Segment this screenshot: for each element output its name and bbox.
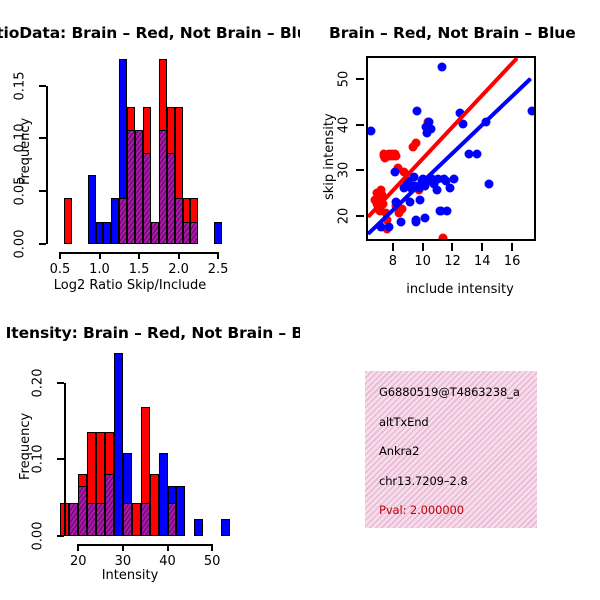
info-probe-id: G6880519@T4863238_a <box>379 385 537 399</box>
info-pval: Pval: 2.000000 <box>379 503 537 517</box>
histogram-bar <box>64 198 72 244</box>
panel-intensity-histogram: ne Itensity: Brain – Red, Not Brain – B … <box>0 320 300 600</box>
y-tickmark <box>39 243 46 245</box>
histogram-bar <box>214 222 222 244</box>
scatter-point-brain <box>411 138 420 147</box>
scatter-point-not-brain <box>484 179 493 188</box>
x-tick-label: 0.5 <box>50 262 71 277</box>
histogram-bar <box>194 519 203 536</box>
x-tickmark <box>392 243 394 251</box>
histogram-bar-overlap <box>175 198 183 244</box>
x-tick-label: 2.5 <box>208 262 229 277</box>
scatter-point-not-brain <box>450 175 459 184</box>
y-tick-label: 0.00 <box>31 522 46 551</box>
scatter-point-not-brain <box>366 127 375 136</box>
x-tickmark <box>178 252 180 259</box>
y-tick-label: 40 <box>337 116 352 133</box>
y-tickmark <box>356 78 364 80</box>
y-tickmark <box>39 190 46 192</box>
histogram-bar <box>159 453 168 536</box>
x-tick-label: 12 <box>444 254 461 269</box>
histogram-bar-overlap <box>168 503 177 536</box>
histogram-bar-overlap <box>143 153 151 244</box>
histogram-bar-overlap <box>183 222 191 244</box>
multipanel-figure: RatioData: Brain – Red, Not Brain – Blu … <box>0 0 600 600</box>
panel-intensity-scatter: Brain – Red, Not Brain – Blue 8101214162… <box>300 20 600 320</box>
y-tickmark <box>356 215 364 217</box>
scatter-ylabel: skip intensity <box>322 113 337 200</box>
scatter-point-not-brain <box>472 149 481 158</box>
x-tickmark <box>422 243 424 251</box>
y-tick-label: 0.15 <box>12 71 27 100</box>
histogram-bar-overlap <box>96 503 105 536</box>
histogram-bar-overlap <box>141 503 150 536</box>
scatter-point-not-brain <box>528 106 536 115</box>
histogram-bar-overlap <box>190 222 198 244</box>
scatter-point-not-brain <box>426 124 435 133</box>
x-tick-label: 10 <box>414 254 431 269</box>
scatter-point-not-brain <box>413 106 422 115</box>
x-tick-label: 16 <box>504 254 521 269</box>
y-axis-line <box>46 86 48 244</box>
histogram-bar-overlap <box>69 503 78 536</box>
x-tick-label: 30 <box>115 554 132 569</box>
histogram-bar-overlap <box>167 153 175 244</box>
y-tick-label: 0.10 <box>31 445 46 474</box>
scatter-point-not-brain <box>432 186 441 195</box>
y-tick-label: 0.20 <box>31 368 46 397</box>
histogram-bar-overlap <box>123 503 132 536</box>
panel-intensity-histogram-title: ne Itensity: Brain – Red, Not Brain – B <box>0 324 300 342</box>
histogram-bar-overlap <box>78 486 87 536</box>
info-event-type: altTxEnd <box>379 415 537 429</box>
x-tick-label: 2.0 <box>168 262 189 277</box>
y-tickmark <box>356 169 364 171</box>
x-tick-label: 20 <box>70 554 87 569</box>
histogram-bar <box>176 486 185 536</box>
scatter-point-not-brain <box>420 213 429 222</box>
x-axis-line <box>78 544 212 546</box>
panel-ratio-histogram-title: RatioData: Brain – Red, Not Brain – Blu <box>0 24 300 42</box>
y-tick-label: 20 <box>337 208 352 225</box>
feature-info-box: G6880519@T4863238_a altTxEnd Ankra2 chr1… <box>365 371 537 528</box>
scatter-point-not-brain <box>390 168 399 177</box>
x-tickmark <box>59 252 61 259</box>
x-tickmark <box>511 243 513 251</box>
panel-intensity-scatter-title: Brain – Red, Not Brain – Blue <box>329 24 576 42</box>
y-tickmark <box>57 458 64 460</box>
y-tick-label: 50 <box>337 71 352 88</box>
intensity-histogram-xlabel: Intensity <box>0 568 260 583</box>
histogram-bar-overlap <box>127 130 135 244</box>
info-locus: chr13.7209–2.8 <box>379 474 537 488</box>
x-tick-label: 1.0 <box>89 262 110 277</box>
x-tick-label: 14 <box>474 254 491 269</box>
regression-line <box>367 57 519 219</box>
y-tickmark <box>57 382 64 384</box>
histogram-bar <box>103 222 111 244</box>
histogram-bar-overlap <box>119 198 127 244</box>
histogram-bar <box>132 503 141 536</box>
y-axis-line <box>64 383 66 536</box>
y-tick-label: 0.00 <box>12 230 27 259</box>
y-tick-label: 30 <box>337 162 352 179</box>
x-tickmark <box>167 544 169 551</box>
x-tickmark <box>122 544 124 551</box>
y-tickmark <box>57 535 64 537</box>
x-tickmark <box>481 243 483 251</box>
y-tickmark <box>356 124 364 126</box>
x-tickmark <box>77 544 79 551</box>
histogram-bar-overlap <box>135 130 143 244</box>
scatter-point-not-brain <box>437 63 446 72</box>
intensity-histogram-ylabel: Frequency <box>18 413 33 480</box>
histogram-bar <box>221 519 230 536</box>
histogram-bar-overlap <box>151 222 159 244</box>
scatter-point-brain <box>438 234 447 241</box>
scatter-xlabel: include intensity <box>360 282 560 297</box>
x-tick-label: 40 <box>159 554 176 569</box>
x-tickmark <box>211 544 213 551</box>
x-tickmark <box>138 252 140 259</box>
histogram-bar <box>88 175 96 244</box>
ratio-histogram-ylabel: Frequency <box>18 118 33 185</box>
ratio-histogram-xlabel: Log2 Ratio Skip/Include <box>0 278 260 293</box>
scatter-point-brain <box>392 152 401 161</box>
x-tick-label: 8 <box>389 254 397 269</box>
histogram-bar <box>96 222 104 244</box>
scatter-point-not-brain <box>396 218 405 227</box>
scatter-point-not-brain <box>443 207 452 216</box>
histogram-bar-overlap <box>105 474 114 536</box>
histogram-bar <box>111 198 119 244</box>
x-tick-label: 1.5 <box>129 262 150 277</box>
scatter-plot-box <box>366 56 536 241</box>
scatter-point-not-brain <box>384 223 393 232</box>
histogram-bar-overlap <box>87 503 96 536</box>
scatter-point-not-brain <box>416 195 425 204</box>
panel-ratio-histogram: RatioData: Brain – Red, Not Brain – Blu … <box>0 20 300 320</box>
x-tickmark <box>99 252 101 259</box>
scatter-point-not-brain <box>446 184 455 193</box>
info-gene-symbol: Ankra2 <box>379 444 537 458</box>
y-tickmark <box>39 85 46 87</box>
histogram-bar <box>114 353 123 536</box>
histogram-bar-overlap <box>159 130 167 244</box>
x-tickmark <box>451 243 453 251</box>
y-tickmark <box>39 137 46 139</box>
histogram-bar <box>150 474 159 536</box>
x-tick-label: 50 <box>204 554 221 569</box>
x-tickmark <box>217 252 219 259</box>
